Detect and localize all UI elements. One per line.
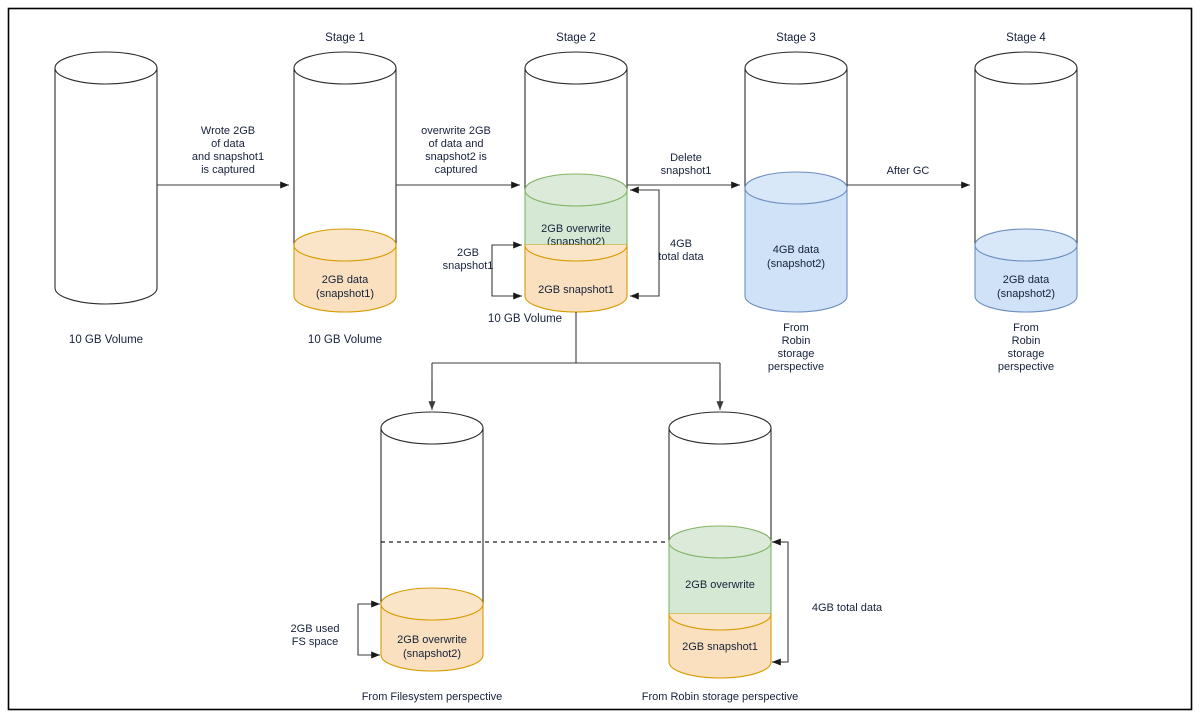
measure1-label-line2: snapshot1 (443, 260, 494, 272)
cylinder-stage3-caption-line1: From (783, 322, 809, 334)
measure-4gb-total-data: 4GB total data (630, 190, 705, 296)
measure-2gb-used-fs-space: 2GB used FS space (291, 604, 380, 655)
storage-snapshot-diagram: Stage 1 Stage 2 Stage 3 Stage 4 10 GB Vo… (0, 0, 1200, 718)
arrow-wrote-2gb: Wrote 2GB of data and snapshot1 is captu… (157, 125, 289, 185)
stage-4-title: Stage 4 (1006, 32, 1046, 44)
cylinder-stage3-caption-line3: storage (778, 348, 815, 360)
arrow1-label-line1: Wrote 2GB (201, 125, 255, 137)
segment-robin-orange-label-line1: 2GB snapshot1 (682, 641, 758, 653)
cylinder-initial-caption: 10 GB Volume (69, 334, 143, 346)
arrow-after-gc: After GC (847, 165, 970, 185)
segment-stage3-label-line2: (snapshot2) (767, 258, 825, 270)
segment-fs-label-line2: (snapshot2) (403, 648, 461, 660)
arrow2-label-line4: captured (435, 164, 478, 176)
cylinder-stage-4: 2GB data (snapshot2) From Robin storage … (975, 52, 1077, 373)
measure2-label-line2: total data (658, 251, 704, 263)
arrow-overwrite-2gb: overwrite 2GB of data and snapshot2 is c… (396, 125, 520, 185)
cylinder-robin-perspective: 2GB overwrite 2GB snapshot1 From Robin s… (642, 412, 799, 703)
measure-4gb-total-data-bottom: 4GB total data (772, 542, 883, 662)
arrow1-label-line4: is captured (201, 164, 255, 176)
segment-stage2-green-label-line1: 2GB overwrite (541, 223, 611, 235)
measure3-label-line1: 2GB used (291, 623, 340, 635)
cylinder-stage1-caption: 10 GB Volume (308, 334, 382, 346)
segment-stage4-snapshot2-top (975, 229, 1077, 261)
segment-robin-snapshot2-top (669, 526, 771, 558)
stage-1-title: Stage 1 (325, 32, 365, 44)
cylinder-stage4-caption-line2: Robin (1012, 335, 1041, 347)
cylinder-stage4-caption-line1: From (1013, 322, 1039, 334)
arrow4-label: After GC (887, 165, 930, 177)
diagram-canvas: Stage 1 Stage 2 Stage 3 Stage 4 10 GB Vo… (0, 0, 1200, 718)
cylinder-stage-2: 2GB overwrite (snapshot2) 2GB snapshot1 … (488, 52, 627, 325)
measure1-label-line1: 2GB (457, 247, 479, 259)
stage-2-title: Stage 2 (556, 32, 596, 44)
cylinder-fs-caption: From Filesystem perspective (362, 691, 503, 703)
arrow1-label-line3: and snapshot1 (192, 151, 264, 163)
cylinder-filesystem-perspective: 2GB overwrite (snapshot2) From Filesyste… (362, 412, 503, 703)
segment-stage3-label-line1: 4GB data (773, 244, 820, 256)
segment-stage3-snapshot2-top (745, 172, 847, 204)
arrow3-label-line2: snapshot1 (661, 165, 712, 177)
cylinder-robin-caption: From Robin storage perspective (642, 691, 799, 703)
segment-stage1-snapshot1-top (294, 229, 396, 261)
arrow3-label-line1: Delete (670, 152, 702, 164)
arrow2-label-line3: snapshot2 is (425, 151, 487, 163)
cylinder-stage4-caption-line3: storage (1008, 348, 1045, 360)
segment-stage1-label-line1: 2GB data (322, 274, 369, 286)
cylinder-stage4-caption-line4: perspective (998, 361, 1054, 373)
cylinder-stage3-caption-line2: Robin (782, 335, 811, 347)
segment-stage2-orange-label-line1: 2GB snapshot1 (538, 284, 614, 296)
segment-robin-green-label-line1: 2GB overwrite (685, 579, 755, 591)
cylinder-stage3-caption-line4: perspective (768, 361, 824, 373)
segment-stage4-label-line2: (snapshot2) (997, 288, 1055, 300)
cylinder-stage-3: 4GB data (snapshot2) From Robin storage … (745, 52, 847, 373)
measure-2gb-snapshot1: 2GB snapshot1 (443, 245, 522, 296)
connector-stage2-split (432, 312, 720, 410)
arrow2-label-line2: of data and (428, 138, 483, 150)
measure4-label: 4GB total data (812, 602, 883, 614)
segment-fs-label-line1: 2GB overwrite (397, 634, 467, 646)
cylinder-initial-volume: 10 GB Volume (55, 52, 157, 346)
arrow1-label-line2: of data (211, 138, 246, 150)
segment-fs-snapshot2-top (381, 588, 483, 620)
cylinder-stage2-caption: 10 GB Volume (488, 313, 562, 325)
arrow-delete-snapshot1: Delete snapshot1 (627, 152, 740, 185)
segment-stage1-label-line2: (snapshot1) (316, 288, 374, 300)
measure2-label-line1: 4GB (670, 238, 692, 250)
arrow2-label-line1: overwrite 2GB (421, 125, 491, 137)
segment-stage4-label-line1: 2GB data (1003, 274, 1050, 286)
stage-3-title: Stage 3 (776, 32, 816, 44)
measure3-label-line2: FS space (292, 636, 338, 648)
cylinder-stage-1: 2GB data (snapshot1) 10 GB Volume (294, 52, 396, 346)
segment-stage2-snapshot2-top (525, 174, 627, 206)
